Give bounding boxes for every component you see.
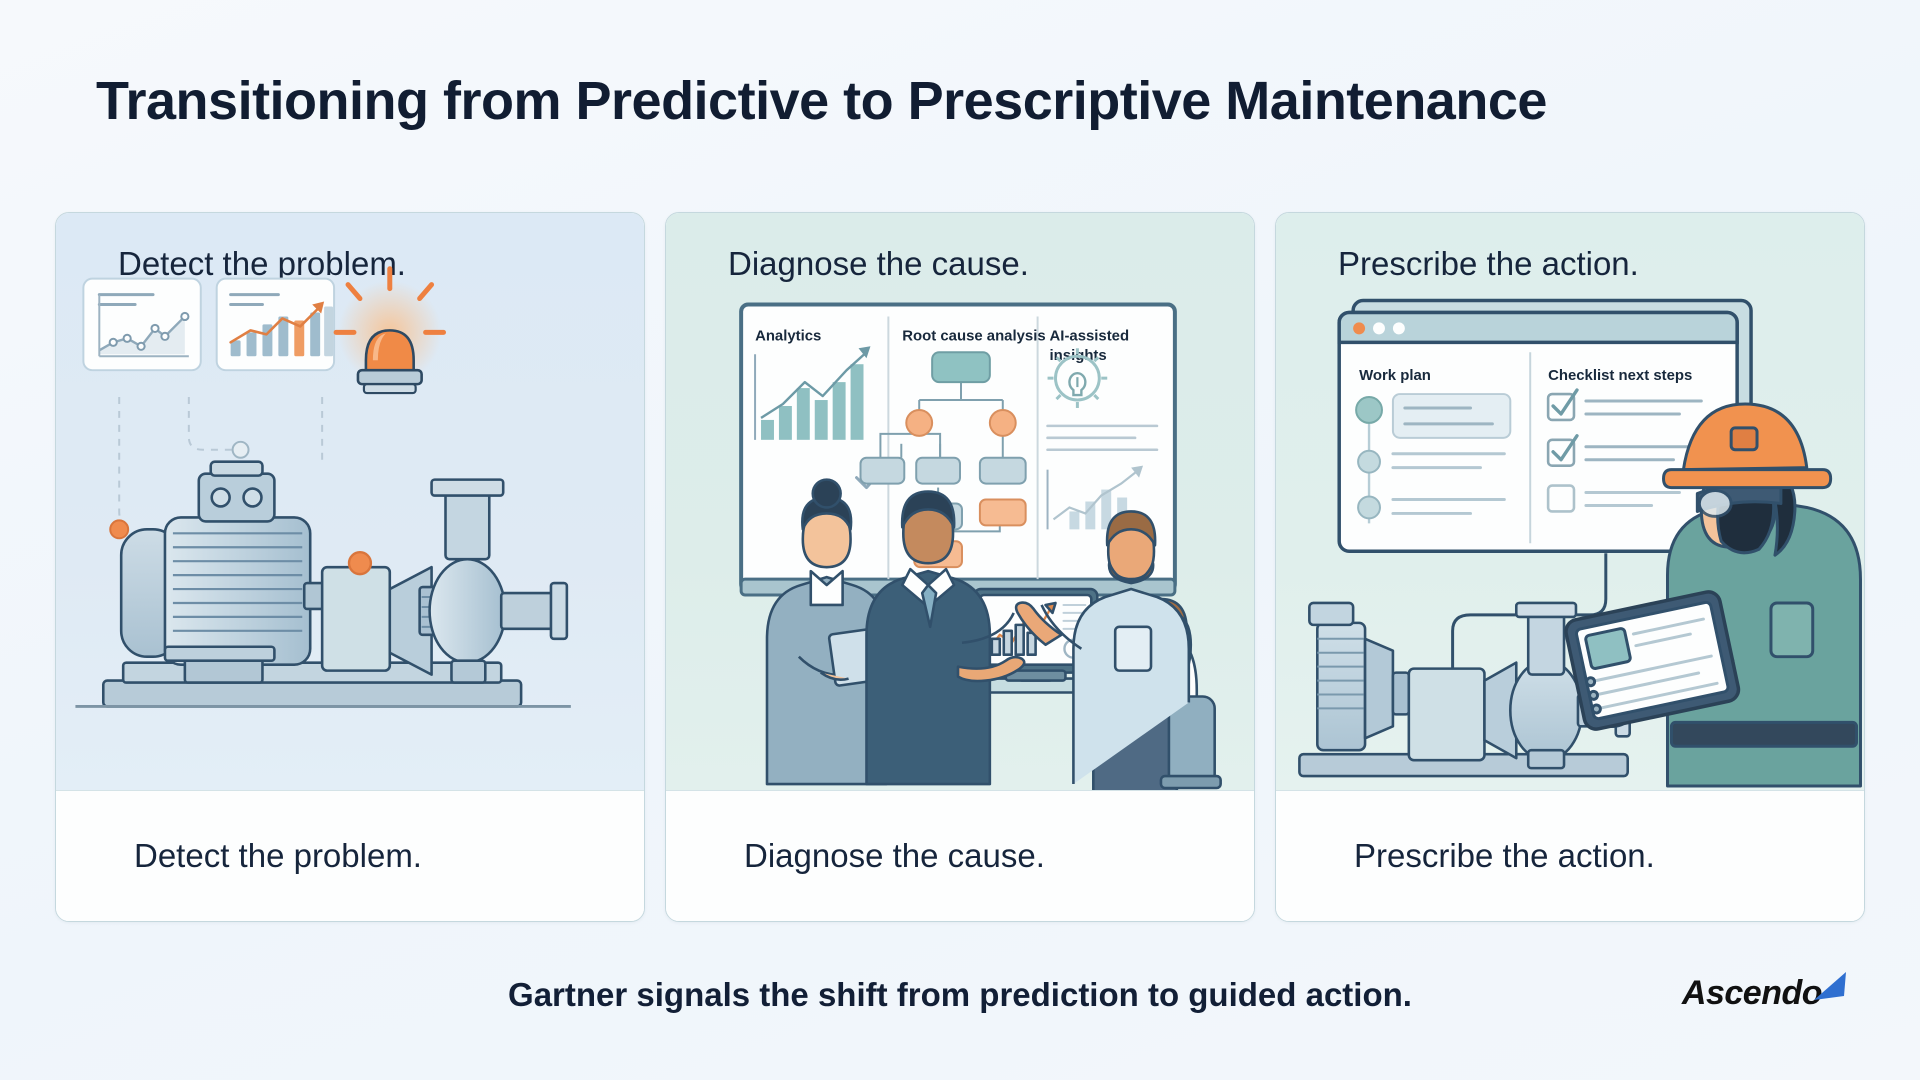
window-dot-maximize	[1393, 322, 1405, 334]
page-title: Transitioning from Predictive to Prescri…	[96, 70, 1547, 132]
panel-detect-art: Detect the problem.	[56, 213, 644, 790]
alert-beacon-icon	[336, 269, 443, 393]
motor-pump-illustration	[75, 462, 570, 707]
label-work-plan: Work plan	[1359, 367, 1431, 384]
panel-detect[interactable]: Detect the problem.	[55, 212, 645, 922]
line-chart-card	[83, 279, 200, 371]
work-plan-window: Work plan Checklist next steps	[1339, 312, 1737, 551]
detect-illustration	[56, 213, 644, 790]
prescribe-illustration: Work plan Checklist next steps	[1276, 213, 1864, 790]
footer: Gartner signals the shift from predictio…	[0, 968, 1920, 1038]
label-ai-insights: AI-assisted	[1050, 327, 1130, 344]
footer-tagline: Gartner signals the shift from predictio…	[0, 976, 1920, 1014]
label-checklist: Checklist next steps	[1548, 367, 1692, 384]
label-analytics: Analytics	[755, 327, 821, 344]
infographic-canvas: Transitioning from Predictive to Prescri…	[0, 0, 1920, 1080]
panel-prescribe[interactable]: Prescribe the action.	[1275, 212, 1865, 922]
ascendo-logo[interactable]: Ascendo	[1682, 974, 1850, 1013]
panel-prescribe-caption: Prescribe the action.	[1276, 790, 1864, 921]
sensor-dot	[110, 520, 128, 538]
panel-grid: Detect the problem.	[55, 212, 1865, 922]
panel-diagnose-art: Diagnose the cause. Analytics Root cause…	[666, 213, 1254, 790]
panel-detect-caption: Detect the problem.	[56, 790, 644, 921]
diagnose-illustration: Analytics Root cause analysis AI-assiste…	[666, 213, 1254, 790]
panel-diagnose-caption: Diagnose the cause.	[666, 790, 1254, 921]
panel-prescribe-art: Prescribe the action.	[1276, 213, 1864, 790]
window-dot-close	[1353, 322, 1365, 334]
bar-chart-card	[217, 279, 334, 371]
sensor-dot	[233, 442, 249, 458]
logo-text: Ascendo	[1682, 974, 1822, 1013]
label-root-cause: Root cause analysis	[902, 327, 1045, 344]
ascendo-arrow-icon	[1810, 970, 1850, 1004]
window-dot-minimize	[1373, 322, 1385, 334]
panel-diagnose[interactable]: Diagnose the cause. Analytics Root cause…	[665, 212, 1255, 922]
